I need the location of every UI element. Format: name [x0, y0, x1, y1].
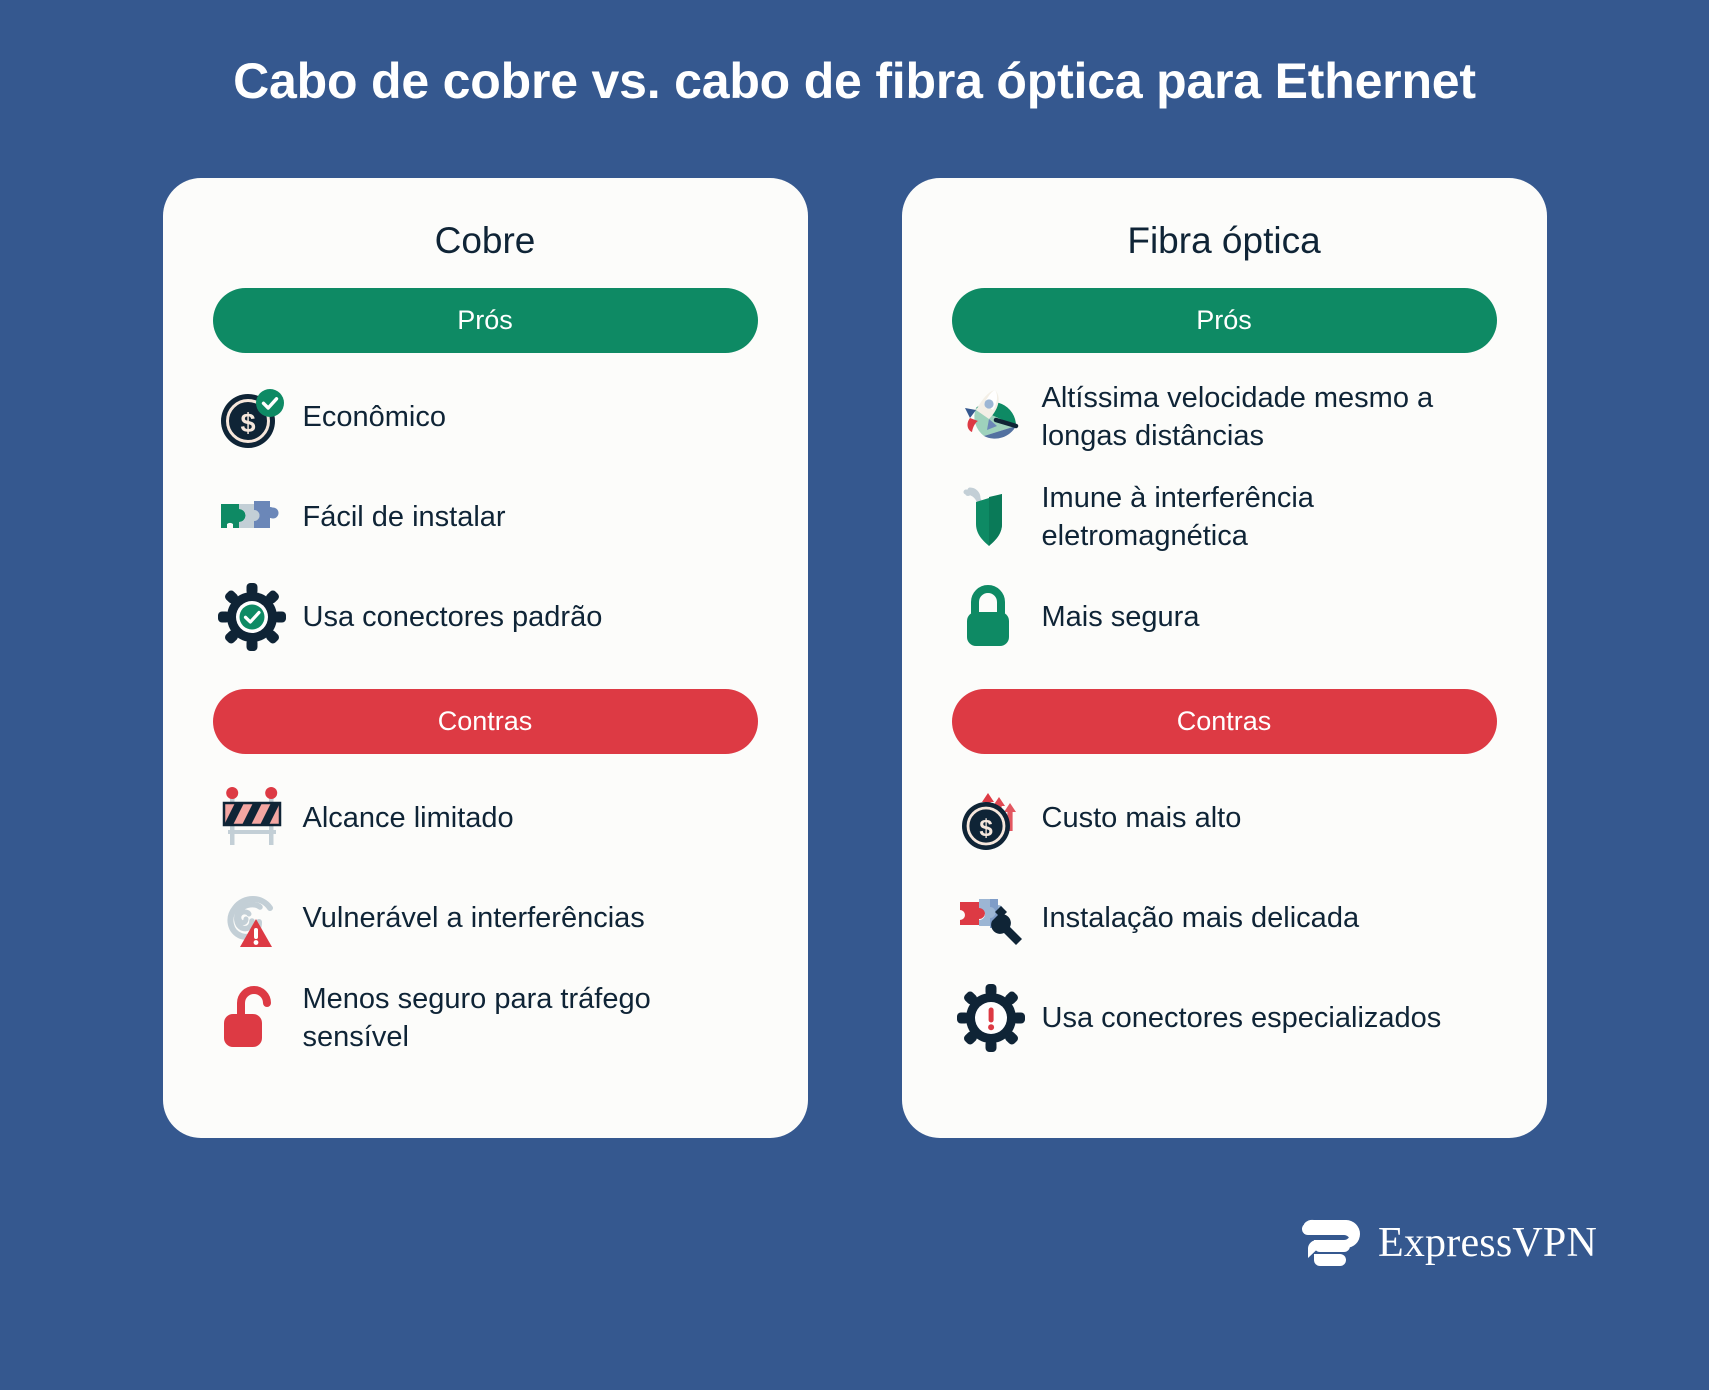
list-item-label: Vulnerável a interferências [303, 899, 758, 937]
page-title: Cabo de cobre vs. cabo de fibra óptica p… [0, 52, 1709, 110]
svg-text:$: $ [979, 815, 993, 842]
column-title-fiber: Fibra óptica [952, 220, 1497, 262]
shield-signal-icon [952, 478, 1030, 556]
list-item: Fácil de instalar [213, 467, 758, 567]
list-item: Mais segura [952, 567, 1497, 667]
rocket-speedometer-icon [952, 378, 1030, 456]
expressvpn-logo: ExpressVPN [1300, 1214, 1597, 1272]
list-item: Instalação mais delicada [952, 868, 1497, 968]
svg-text:$: $ [240, 408, 255, 438]
list-item-label: Econômico [303, 398, 758, 436]
list-item: $ Custo mais alto [952, 768, 1497, 868]
list-item-label: Fácil de instalar [303, 498, 758, 536]
spiral-warning-icon [213, 879, 291, 957]
list-item-label: Instalação mais delicada [1042, 899, 1497, 937]
list-item-label: Menos seguro para tráfego sensível [303, 980, 758, 1057]
puzzle-wrench-icon [952, 879, 1030, 957]
pros-list-copper: $ Econômico [213, 367, 758, 667]
cons-list-copper: Alcance limitado Vulnerável a interferên… [213, 768, 758, 1068]
coin-up-arrows-icon: $ [952, 779, 1030, 857]
coin-check-icon: $ [213, 378, 291, 456]
list-item-label: Usa conectores padrão [303, 598, 758, 636]
expressvpn-logo-text: ExpressVPN [1378, 1219, 1597, 1267]
expressvpn-logo-mark [1300, 1214, 1364, 1272]
list-item-label: Usa conectores especializados [1042, 999, 1497, 1037]
pros-header-fiber: Prós [952, 288, 1497, 353]
locked-padlock-icon [952, 578, 1030, 656]
list-item: Usa conectores padrão [213, 567, 758, 667]
list-item-label: Altíssima velocidade mesmo a longas dist… [1042, 379, 1497, 456]
list-item: Altíssima velocidade mesmo a longas dist… [952, 367, 1497, 467]
column-fiber: Fibra óptica Prós [902, 178, 1547, 1138]
cons-header-fiber: Contras [952, 689, 1497, 754]
puzzle-pieces-icon [213, 478, 291, 556]
gear-check-icon [213, 578, 291, 656]
comparison-columns: Cobre Prós $ Econômico [0, 178, 1709, 1138]
pros-list-fiber: Altíssima velocidade mesmo a longas dist… [952, 367, 1497, 667]
list-item: Alcance limitado [213, 768, 758, 868]
list-item: $ Econômico [213, 367, 758, 467]
gear-alert-icon [952, 979, 1030, 1057]
column-title-copper: Cobre [213, 220, 758, 262]
unlocked-padlock-icon [213, 979, 291, 1057]
pros-header-copper: Prós [213, 288, 758, 353]
list-item: Menos seguro para tráfego sensível [213, 968, 758, 1068]
road-barrier-icon [213, 779, 291, 857]
list-item: Usa conectores especializados [952, 968, 1497, 1068]
list-item-label: Alcance limitado [303, 799, 758, 837]
list-item: Imune à interferência eletromagnética [952, 467, 1497, 567]
cons-list-fiber: $ Custo mais alto [952, 768, 1497, 1068]
column-copper: Cobre Prós $ Econômico [163, 178, 808, 1138]
list-item-label: Mais segura [1042, 598, 1497, 636]
list-item-label: Custo mais alto [1042, 799, 1497, 837]
cons-header-copper: Contras [213, 689, 758, 754]
list-item-label: Imune à interferência eletromagnética [1042, 479, 1497, 556]
list-item: Vulnerável a interferências [213, 868, 758, 968]
